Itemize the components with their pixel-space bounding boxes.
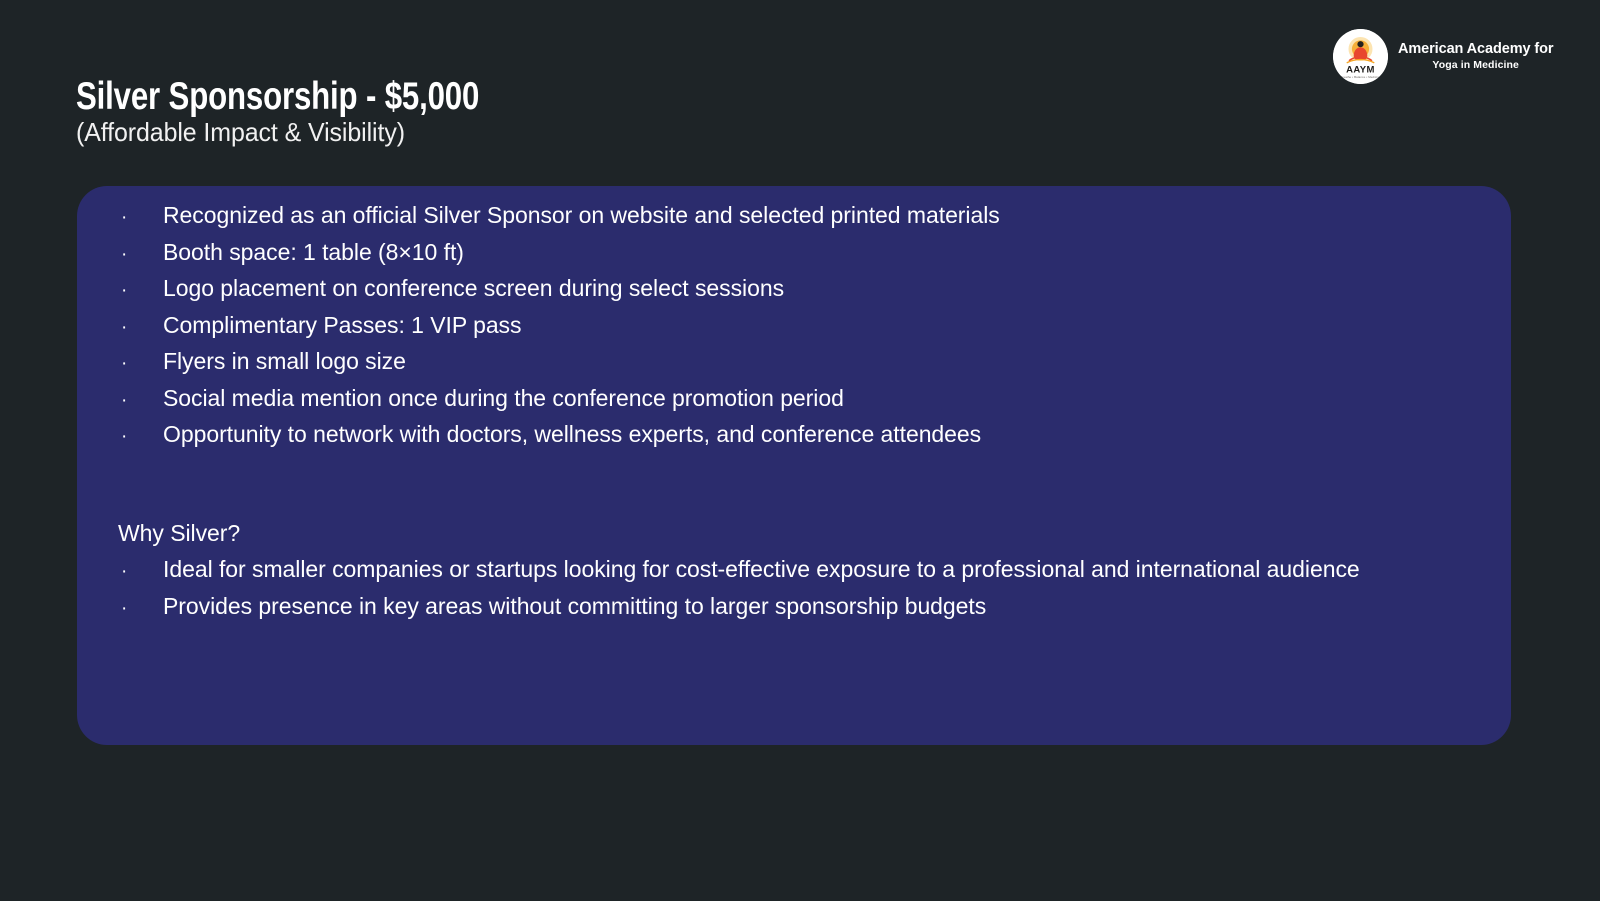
list-item: · Recognized as an official Silver Spons… — [103, 204, 1485, 241]
page-subtitle: (Affordable Impact & Visibility) — [76, 118, 405, 148]
list-item-label: Booth space: 1 table (8×10 ft) — [163, 241, 464, 264]
list-item-label: Logo placement on conference screen duri… — [163, 277, 784, 300]
list-item: · Logo placement on conference screen du… — [103, 277, 1485, 314]
aaym-logo-icon: AAYM Breathe • Balance • Medicine — [1333, 29, 1388, 84]
list-item-label: Opportunity to network with doctors, wel… — [163, 423, 981, 446]
bullet-icon: · — [103, 562, 163, 581]
bullet-icon: · — [103, 354, 163, 373]
list-item: · Booth space: 1 table (8×10 ft) — [103, 241, 1485, 278]
bullet-icon: · — [103, 427, 163, 446]
benefits-card: · Recognized as an official Silver Spons… — [77, 186, 1511, 745]
list-item-label: Complimentary Passes: 1 VIP pass — [163, 314, 521, 337]
bullet-icon: · — [103, 245, 163, 264]
bullet-icon: · — [103, 281, 163, 300]
list-item-label: Provides presence in key areas without c… — [163, 595, 986, 618]
list-item-label: Recognized as an official Silver Sponsor… — [163, 204, 1000, 227]
bullet-icon: · — [103, 318, 163, 337]
list-item: · Provides presence in key areas without… — [103, 595, 1485, 632]
bullet-icon: · — [103, 208, 163, 227]
bullet-icon: · — [103, 599, 163, 618]
section-spacer — [103, 460, 1485, 522]
list-item-label: Flyers in small logo size — [163, 350, 406, 373]
brand-name-line-2: Yoga in Medicine — [1432, 60, 1519, 71]
brand-name-line-1: American Academy for — [1398, 42, 1553, 57]
benefits-list: · Recognized as an official Silver Spons… — [103, 204, 1485, 460]
brand-lockup: AAYM Breathe • Balance • Medicine Americ… — [1333, 29, 1553, 84]
why-silver-list: · Ideal for smaller companies or startup… — [103, 558, 1485, 631]
list-item-label: Ideal for smaller companies or startups … — [163, 558, 1360, 581]
why-silver-heading: Why Silver? — [103, 522, 1485, 559]
list-item: · Social media mention once during the c… — [103, 387, 1485, 424]
bullet-icon: · — [103, 391, 163, 410]
list-item: · Flyers in small logo size — [103, 350, 1485, 387]
list-item: · Complimentary Passes: 1 VIP pass — [103, 314, 1485, 351]
list-item: · Opportunity to network with doctors, w… — [103, 423, 1485, 460]
svg-text:Breathe • Balance • Medicine: Breathe • Balance • Medicine — [1340, 75, 1380, 79]
page-title: Silver Sponsorship - $5,000 — [76, 77, 479, 116]
brand-name: American Academy for Yoga in Medicine — [1398, 42, 1553, 70]
list-item: · Ideal for smaller companies or startup… — [103, 558, 1485, 595]
list-item-label: Social media mention once during the con… — [163, 387, 844, 410]
